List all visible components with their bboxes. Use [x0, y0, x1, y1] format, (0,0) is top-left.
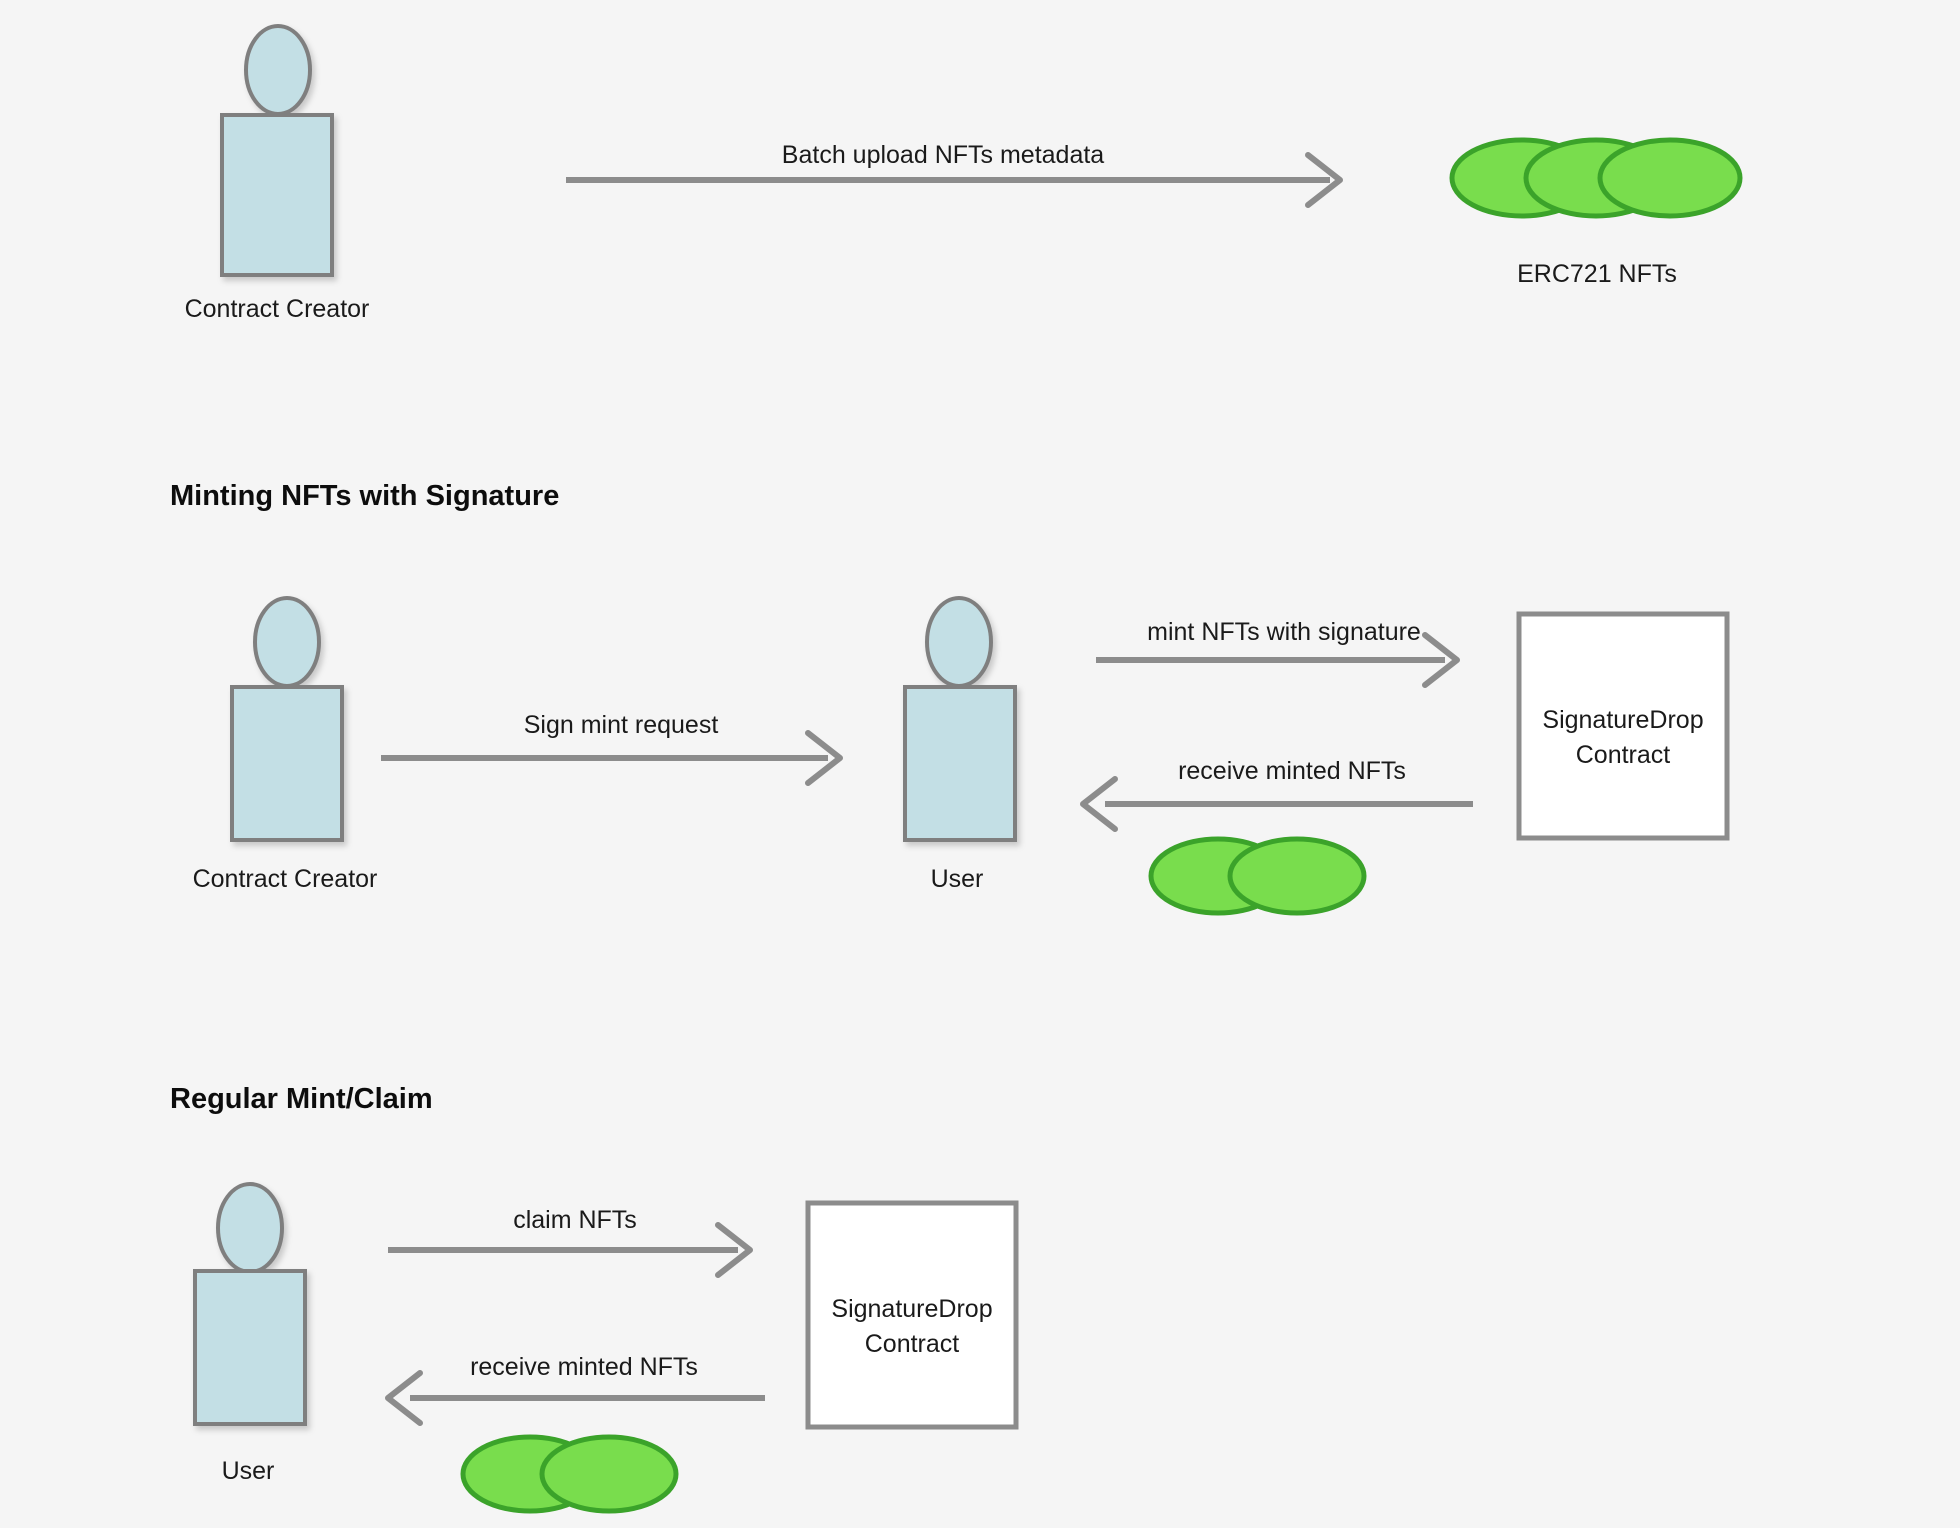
actor-head-icon: [246, 26, 310, 114]
token-ellipse-icon: [542, 1437, 676, 1511]
token-group-erc721-nfts[interactable]: ERC721 NFTs: [1452, 140, 1740, 288]
token-group-minted-nfts-bottom[interactable]: [463, 1437, 676, 1511]
arrow-batch-upload[interactable]: Batch upload NFTs metadata: [566, 141, 1340, 205]
arrow-sign-mint-request[interactable]: Sign mint request: [381, 711, 840, 783]
actor-head-icon: [218, 1184, 282, 1272]
section-heading-minting: Minting NFTs with Signature: [170, 480, 559, 512]
arrow-label-receive-minted-nfts-bottom: receive minted NFTs: [470, 1353, 698, 1381]
actor-body-icon: [905, 687, 1015, 840]
arrow-label-claim-nfts: claim NFTs: [513, 1206, 637, 1234]
actor-head-icon: [927, 598, 991, 686]
contract-box-label-line2: Contract: [865, 1330, 960, 1358]
actor-contract-creator-mid[interactable]: Contract Creator: [193, 598, 378, 893]
contract-box-label-line1: SignatureDrop: [831, 1295, 992, 1323]
actor-label-user-bottom: User: [222, 1457, 275, 1485]
arrow-receive-minted-nfts-mid[interactable]: receive minted NFTs: [1083, 757, 1473, 829]
section-heading-regular: Regular Mint/Claim: [170, 1083, 433, 1115]
contract-box-signaturedrop-bottom[interactable]: SignatureDrop Contract: [808, 1203, 1016, 1427]
arrow-receive-minted-nfts-bottom[interactable]: receive minted NFTs: [388, 1353, 765, 1423]
section-batch-upload: Contract Creator Batch upload NFTs metad…: [185, 26, 1740, 323]
actor-label-contract-creator-mid: Contract Creator: [193, 865, 378, 893]
actor-body-icon: [222, 115, 332, 275]
actor-body-icon: [232, 687, 342, 840]
arrow-claim-nfts[interactable]: claim NFTs: [388, 1206, 750, 1275]
contract-box-label-line2: Contract: [1576, 741, 1671, 769]
arrow-label-sign-mint-request: Sign mint request: [524, 711, 719, 739]
arrow-label-batch-upload: Batch upload NFTs metadata: [782, 141, 1104, 169]
token-group-minted-nfts-mid[interactable]: [1151, 839, 1364, 913]
token-ellipse-icon: [1600, 140, 1740, 216]
actor-label-contract-creator-top: Contract Creator: [185, 295, 370, 323]
token-label-erc721-nfts: ERC721 NFTs: [1517, 260, 1677, 288]
token-ellipse-icon: [1230, 839, 1364, 913]
arrow-mint-with-signature[interactable]: mint NFTs with signature: [1096, 618, 1457, 685]
arrow-label-receive-minted-nfts-mid: receive minted NFTs: [1178, 757, 1406, 785]
contract-box-label-line1: SignatureDrop: [1542, 706, 1703, 734]
actor-body-icon: [195, 1271, 305, 1424]
diagram-canvas: Contract Creator Batch upload NFTs metad…: [0, 0, 1960, 1528]
contract-box-signaturedrop-mid[interactable]: SignatureDrop Contract: [1519, 614, 1727, 838]
actor-contract-creator-top[interactable]: Contract Creator: [185, 26, 370, 323]
actor-user-mid[interactable]: User: [905, 598, 1015, 893]
actor-head-icon: [255, 598, 319, 686]
section-regular-mint-claim: Regular Mint/Claim User claim NFTs recei…: [170, 1083, 1016, 1511]
actor-user-bottom[interactable]: User: [195, 1184, 305, 1485]
section-minting-with-signature: Minting NFTs with Signature Contract Cre…: [170, 480, 1727, 913]
actor-label-user-mid: User: [931, 865, 984, 893]
arrow-label-mint-with-signature: mint NFTs with signature: [1147, 618, 1421, 646]
